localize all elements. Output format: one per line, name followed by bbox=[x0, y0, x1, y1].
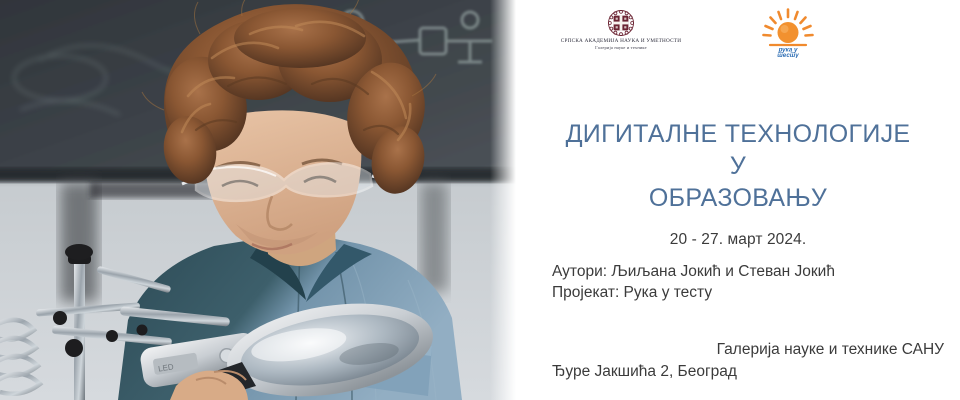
sanu-emblem-icon bbox=[608, 10, 634, 36]
photo-illustration: LED bbox=[0, 0, 516, 400]
project-line: Пројекат: Рука у тесту bbox=[552, 282, 960, 303]
poster-text-panel: СРПСКА АКАДЕМИЈА НАУКА И УМЕТНОСТИ Галер… bbox=[516, 0, 960, 400]
sanu-subtitle: Галерија науке и технике bbox=[538, 45, 704, 50]
event-poster: LED bbox=[0, 0, 960, 400]
logo-row: СРПСКА АКАДЕМИЈА НАУКА И УМЕТНОСТИ Галер… bbox=[516, 8, 960, 70]
lamap-logo: рука у тесту bbox=[738, 8, 838, 58]
event-credits: Аутори: Љиљана Јокић и Стеван Јокић Прој… bbox=[552, 261, 960, 303]
authors-line: Аутори: Љиљана Јокић и Стеван Јокић bbox=[552, 261, 960, 282]
venue-name: Галерија науке и технике САНУ bbox=[516, 341, 944, 359]
poster-title: ДИГИТАЛНЕ ТЕХНОЛОГИЈЕ У ОБРАЗОВАЊУ bbox=[516, 118, 960, 214]
event-dates: 20 - 27. март 2024. bbox=[516, 231, 960, 249]
title-line-3: ОБРАЗОВАЊУ bbox=[516, 182, 960, 214]
title-line-2: У bbox=[516, 150, 960, 182]
sun-icon: рука у тесту bbox=[761, 8, 815, 58]
venue-address: Ђуре Јакшића 2, Београд bbox=[552, 363, 737, 381]
sanu-name: СРПСКА АКАДЕМИЈА НАУКА И УМЕТНОСТИ bbox=[538, 38, 704, 44]
lamap-wordmark-line2: тесту bbox=[777, 52, 799, 58]
title-line-1: ДИГИТАЛНЕ ТЕХНОЛОГИЈЕ bbox=[516, 118, 960, 150]
sanu-logo: СРПСКА АКАДЕМИЈА НАУКА И УМЕТНОСТИ Галер… bbox=[538, 10, 704, 50]
event-photo: LED bbox=[0, 0, 516, 400]
